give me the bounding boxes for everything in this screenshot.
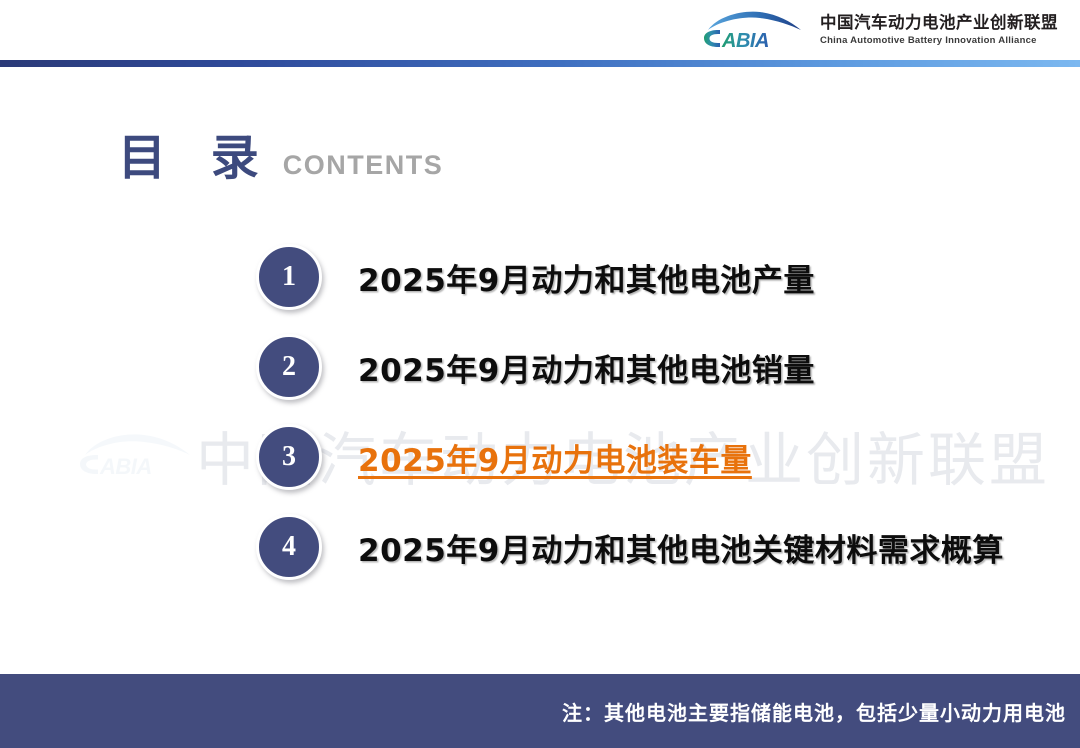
header-gradient-divider: [0, 60, 1080, 67]
contents-item-label-3[interactable]: 2025年9月动力电池装车量: [358, 435, 752, 480]
org-name-cn: 中国汽车动力电池产业创新联盟: [820, 15, 1058, 32]
slide-contents-page: ABIA 中国汽车动力电池产业创新联盟 China Automotive Bat…: [0, 0, 1080, 748]
contents-list: 1 2025年9月动力和其他电池产量 2 2025年9月动力和其他电池销量 3 …: [0, 232, 1080, 592]
svg-text:ABIA: ABIA: [721, 30, 769, 52]
contents-item-label-1[interactable]: 2025年9月动力和其他电池产量: [358, 255, 815, 300]
slide-header: ABIA 中国汽车动力电池产业创新联盟 China Automotive Bat…: [0, 0, 1080, 60]
page-title-en: CONTENTS: [283, 150, 444, 181]
page-title: 目 录 CONTENTS: [118, 118, 443, 188]
brand-text-block: 中国汽车动力电池产业创新联盟 China Automotive Battery …: [820, 15, 1058, 45]
item-number-3: 3: [256, 424, 322, 490]
item-number-badge: 2: [256, 334, 322, 400]
brand-lockup: ABIA 中国汽车动力电池产业创新联盟 China Automotive Bat…: [702, 8, 1058, 52]
item-number-4: 4: [256, 514, 322, 580]
item-number-badge: 3: [256, 424, 322, 490]
org-name-en: China Automotive Battery Innovation Alli…: [820, 36, 1058, 46]
footer-note-text: 注：其他电池主要指储能电池，包括少量小动力用电池: [562, 697, 1080, 726]
list-item[interactable]: 2 2025年9月动力和其他电池销量: [0, 322, 1080, 412]
cabia-car-logo-icon: ABIA: [702, 8, 806, 52]
item-number-1: 1: [256, 244, 322, 310]
page-title-cn: 目 录: [118, 118, 273, 188]
contents-item-label-2[interactable]: 2025年9月动力和其他电池销量: [358, 345, 815, 390]
item-number-badge: 4: [256, 514, 322, 580]
list-item[interactable]: 1 2025年9月动力和其他电池产量: [0, 232, 1080, 322]
slide-footer: 注：其他电池主要指储能电池，包括少量小动力用电池: [0, 674, 1080, 748]
item-number-badge: 1: [256, 244, 322, 310]
contents-item-label-4[interactable]: 2025年9月动力和其他电池关键材料需求概算: [358, 525, 1004, 570]
list-item[interactable]: 3 2025年9月动力电池装车量: [0, 412, 1080, 502]
list-item[interactable]: 4 2025年9月动力和其他电池关键材料需求概算: [0, 502, 1080, 592]
item-number-2: 2: [256, 334, 322, 400]
